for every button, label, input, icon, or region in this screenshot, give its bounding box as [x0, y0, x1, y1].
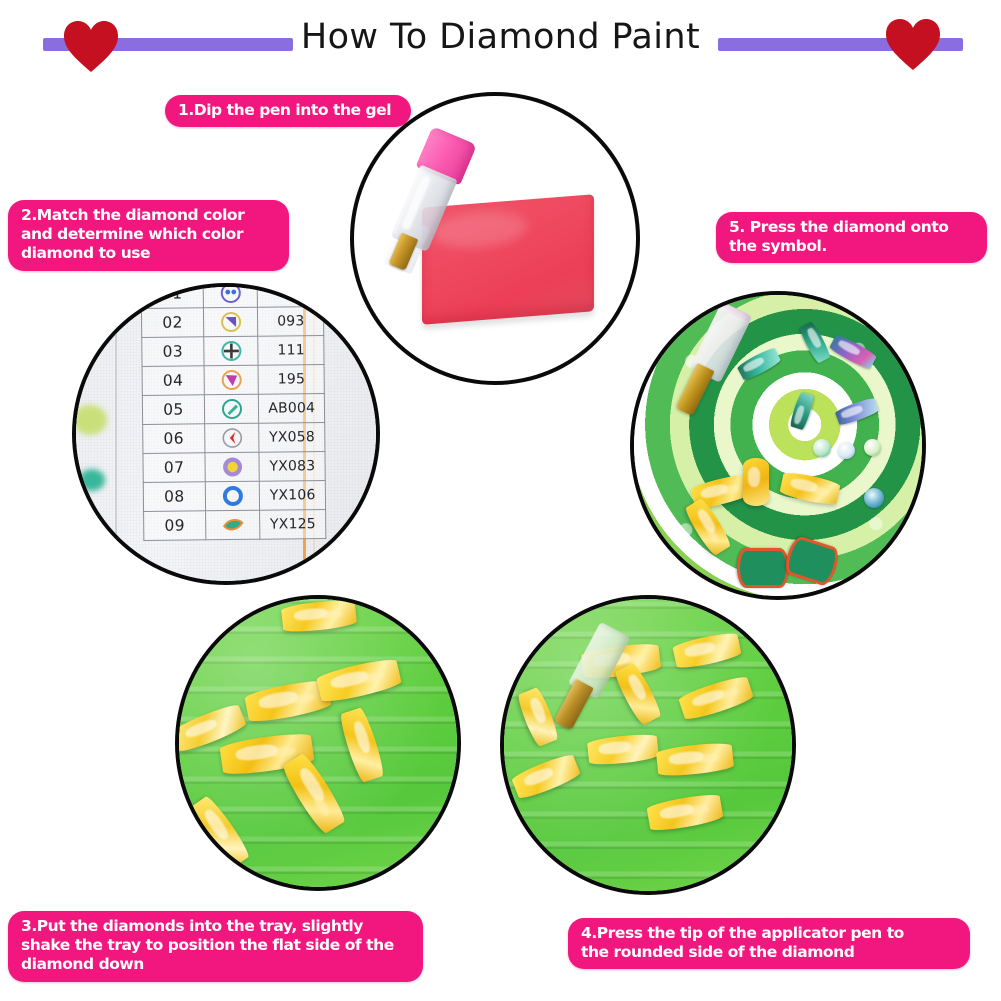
infographic-canvas: How To Diamond Paint 1.Dip the pen into … [0, 0, 1001, 1001]
triangle-wedge-circle-symbol [220, 311, 242, 333]
chart-no: 02 [141, 308, 203, 338]
table-row: 02 093 [141, 307, 323, 338]
chart-blob-green [73, 405, 107, 435]
pen-tip [676, 363, 715, 416]
chart-symbol-cell [203, 283, 258, 308]
double-dot-circle-symbol [219, 283, 241, 304]
gem-yellow-petal-center [743, 458, 769, 506]
chart-code: YX106 [260, 481, 326, 511]
table-row: 07 YX083 [143, 452, 325, 483]
gem-round-1 [813, 439, 831, 457]
table-row: 03 111 [142, 336, 324, 367]
chart-no: 03 [142, 337, 204, 367]
chart-code: 111 [258, 336, 324, 366]
page-title: How To Diamond Paint [0, 20, 1001, 55]
chart-symbol-cell [205, 452, 260, 482]
step-2-label: 2.Match the diamond color and determine … [8, 200, 289, 271]
chart-no: 05 [142, 395, 204, 425]
red-chevron-circle-symbol [221, 427, 243, 449]
chart-code: AB004 [259, 394, 325, 424]
diamonds-in-tray-photo [175, 595, 461, 891]
pen-dipping-into-gel-photo [350, 92, 640, 385]
table-row: 09 YX125 [144, 510, 326, 541]
blue-donut-symbol [221, 485, 243, 507]
chart-code: 093 [258, 307, 324, 337]
chart-no: 08 [143, 482, 205, 512]
chart-code: 195 [259, 365, 325, 395]
table-row: 08 YX106 [143, 481, 325, 512]
teal-slash-circle-symbol [221, 398, 243, 420]
chart-code: YX058 [259, 423, 325, 453]
pen-tip [553, 679, 593, 731]
gem-round-4 [864, 488, 884, 508]
green-leaf-orange-outline-symbol [222, 514, 244, 536]
chart-no: 04 [142, 366, 204, 396]
printed-leaf-left [737, 548, 789, 588]
chart-symbol-cell [204, 394, 259, 424]
step-5-label: 5. Press the diamond onto the symbol. [716, 212, 987, 263]
chart-symbol-cell [205, 510, 260, 540]
color-chart-photo: 01 028 02 [72, 283, 380, 585]
table-row: 05 AB004 [142, 394, 324, 425]
chart-margin-rule [115, 283, 117, 585]
chart-no: 09 [144, 511, 206, 541]
chart-symbol-cell [205, 423, 260, 453]
step-3-label: 3.Put the diamonds into the tray, slight… [8, 911, 423, 982]
magenta-wedge-circle-symbol [220, 369, 242, 391]
table-row: 01 028 [141, 283, 323, 309]
press-diamond-onto-canvas-photo [630, 291, 926, 600]
chart-symbol-cell [203, 307, 258, 337]
pen-picking-diamond-photo [500, 595, 796, 895]
chart-no: 07 [143, 453, 205, 483]
table-row: 04 195 [142, 365, 324, 396]
chart-code: YX125 [260, 510, 326, 540]
step-4-label: 4.Press the tip of the applicator pen to… [568, 918, 970, 969]
chart-symbol-cell [204, 336, 259, 366]
color-chart-table: 01 028 02 [141, 283, 327, 541]
plus-cross-circle-symbol [220, 340, 242, 362]
chart-no: 01 [141, 283, 203, 309]
chart-code: 028 [258, 283, 324, 307]
chart-no: 06 [143, 424, 205, 454]
chart-symbol-cell [205, 481, 260, 511]
chart-code: YX083 [259, 452, 325, 482]
chart-symbol-cell [204, 365, 259, 395]
table-row: 06 YX058 [143, 423, 325, 454]
yellow-dot-violet-ring-symbol [221, 456, 243, 478]
